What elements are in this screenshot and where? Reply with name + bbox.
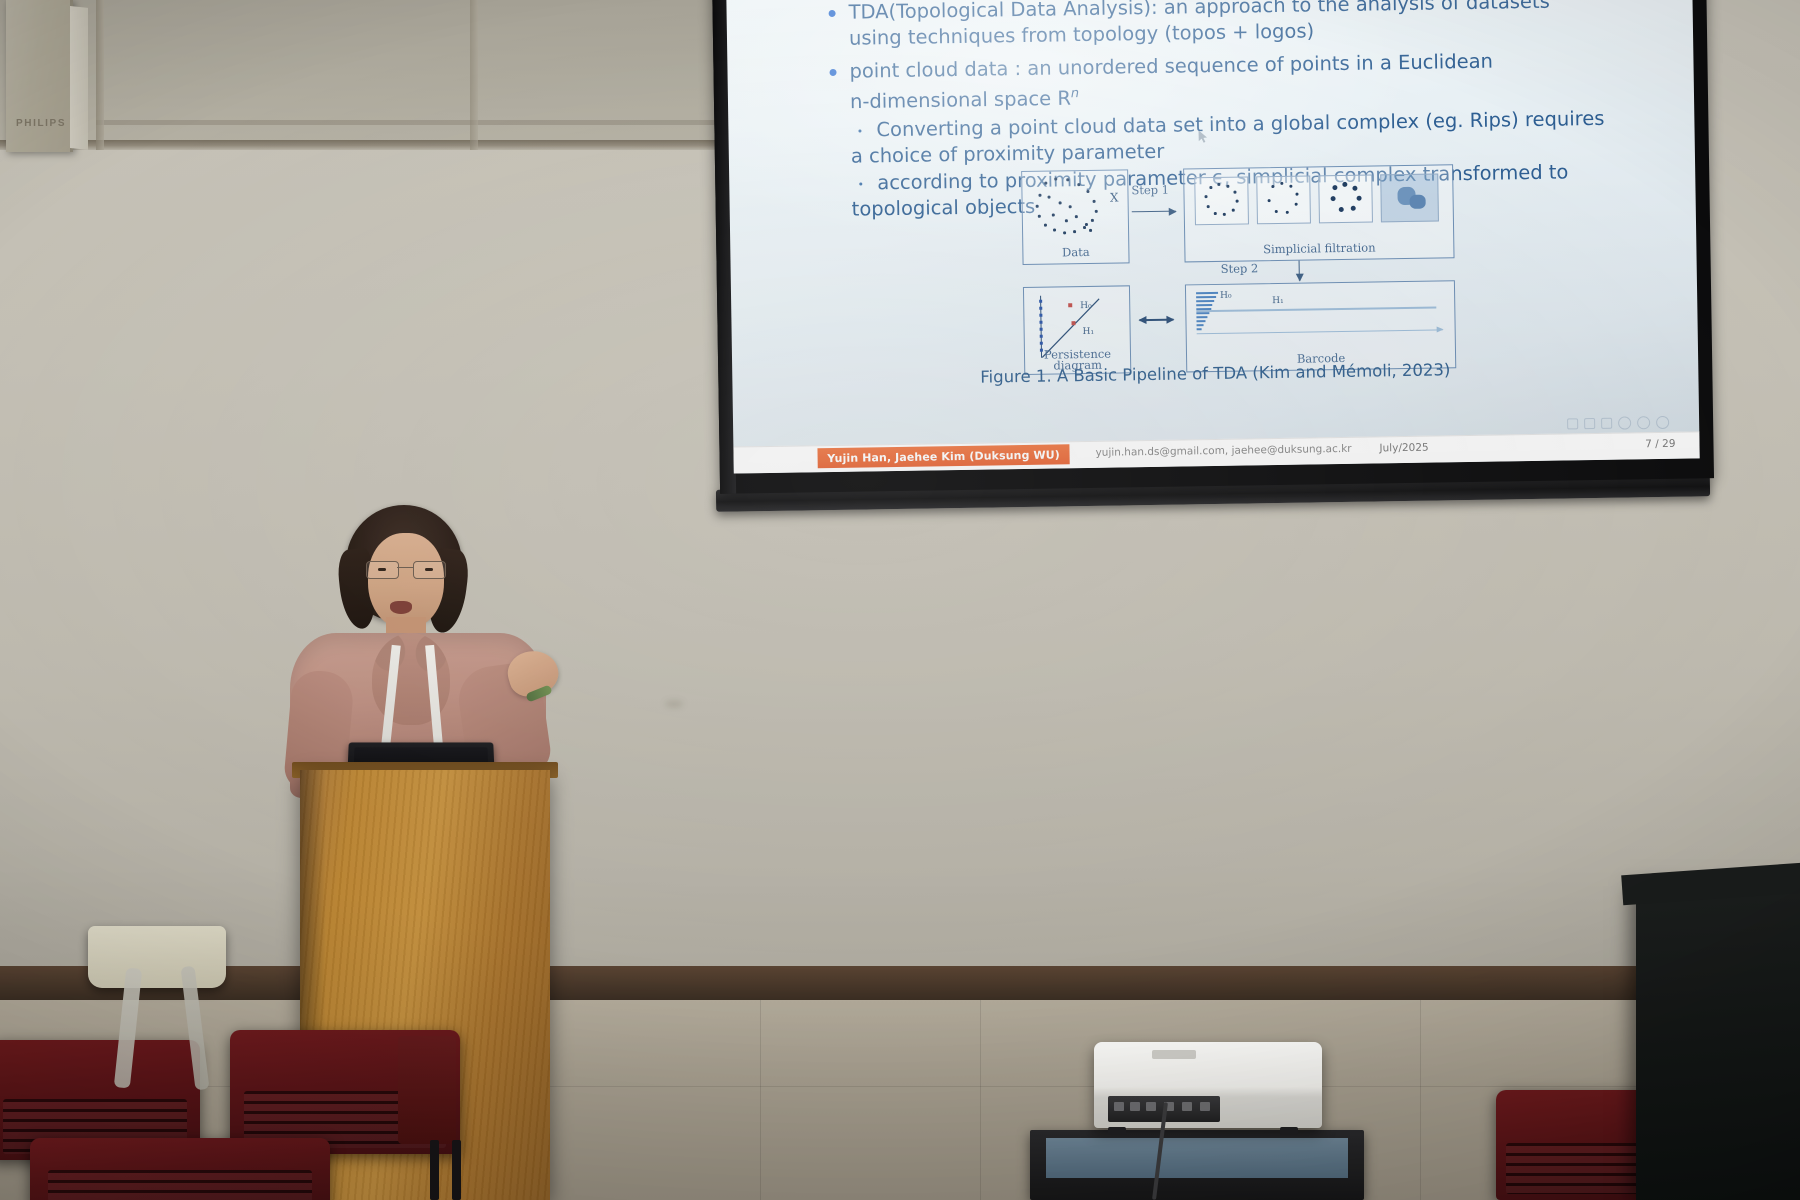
covered-table-right xyxy=(1636,886,1800,1200)
nav-circle-icon[interactable] xyxy=(1618,416,1631,429)
figure-arrow-step2-icon xyxy=(1299,261,1301,281)
filtration-stage-2 xyxy=(1256,175,1311,224)
bullet-dot-icon xyxy=(829,69,836,76)
bullet-dot-icon xyxy=(829,10,836,17)
projector-foot xyxy=(1108,1127,1126,1135)
presenter-face xyxy=(368,533,444,629)
chair-slats xyxy=(1506,1143,1656,1194)
screen-frame: Topological Data Analysis TDA(Topologica… xyxy=(712,0,1714,494)
projected-slide: Topological Data Analysis TDA(Topologica… xyxy=(726,0,1700,474)
glasses-left-lens xyxy=(366,561,399,579)
sub-bullet-dot-icon xyxy=(859,182,862,185)
figure-arrow-bidirectional-icon xyxy=(1139,319,1173,321)
slide-footer-authors: Yujin Han, Jaehee Kim (Duksung WU) xyxy=(827,448,1060,465)
projection-screen: Topological Data Analysis TDA(Topologica… xyxy=(716,0,1716,548)
figure-step2-label: Step 2 xyxy=(1221,261,1259,276)
figure-label-data: Data xyxy=(1023,244,1128,260)
persistence-h1-label: H₁ xyxy=(1083,327,1095,337)
slide-footer: Yujin Han, Jaehee Kim (Duksung WU) yujin… xyxy=(733,431,1699,473)
tote-bag xyxy=(88,926,226,988)
filtration-stage-4 xyxy=(1380,173,1439,222)
sub-bullet-dot-icon xyxy=(858,129,861,132)
chair-leg xyxy=(452,1140,461,1200)
chair-leg xyxy=(430,1140,439,1200)
philips-brand-label: PHILIPS xyxy=(16,118,66,129)
presenter-eye xyxy=(378,568,386,571)
slide-footer-date: July/2025 xyxy=(1379,442,1428,455)
presentation-photo-scene: PHILIPS Topological Data Analysis TDA(To… xyxy=(0,0,1800,1200)
chair-slats xyxy=(48,1170,312,1200)
figure-box-data: X Data xyxy=(1021,169,1129,265)
figure-box-barcode: H₀ H₁ xyxy=(1185,280,1456,372)
persistence-h0-label: H₀ xyxy=(1080,301,1092,311)
wall-column-left xyxy=(96,0,104,150)
figure-step1-label: Step 1 xyxy=(1131,183,1169,198)
projector-table-cloth xyxy=(1046,1138,1348,1178)
presenter-mouth xyxy=(390,601,412,614)
floor-tile-line xyxy=(760,1000,761,1200)
wall-column-right xyxy=(470,0,478,150)
floor-tile-line xyxy=(980,1000,981,1200)
nav-square-icon[interactable] xyxy=(1601,418,1612,429)
figure-box-persistence: H₀ H₁ Persistence diagram xyxy=(1023,285,1131,375)
glasses-right-lens xyxy=(413,561,446,579)
barcode-h1-label: H₁ xyxy=(1272,296,1284,306)
wall-scuff-mark xyxy=(665,700,683,708)
filtration-stage-1 xyxy=(1194,176,1249,225)
chair-back-rest xyxy=(30,1138,330,1200)
nav-circle-icon[interactable] xyxy=(1637,416,1650,429)
wall-speaker-box: PHILIPS xyxy=(6,0,73,152)
figure-box-filtration: Simplicial filtration xyxy=(1183,164,1454,262)
nav-circle-icon[interactable] xyxy=(1656,416,1669,429)
figure-label-filtration: Simplicial filtration xyxy=(1185,239,1453,257)
nav-square-icon[interactable] xyxy=(1567,418,1578,429)
wall-seam-secondary xyxy=(96,120,796,125)
chair-arm-rest xyxy=(398,1036,456,1144)
slide-footer-emails: yujin.han.ds@gmail.com, jaehee@duksung.a… xyxy=(1095,443,1351,459)
superscript-n: n xyxy=(1071,86,1079,101)
barcode-h0-label: H₀ xyxy=(1220,291,1232,301)
figure-point-label-x: X xyxy=(1110,190,1119,204)
figure-arrow-step1-icon xyxy=(1132,211,1176,213)
mouse-cursor-icon xyxy=(1198,130,1207,143)
floor-tile-line xyxy=(1420,1000,1421,1200)
glasses-bridge xyxy=(397,567,413,568)
presenter-glasses-icon xyxy=(365,561,447,577)
bullet-item: TDA(Topological Data Analysis): an appro… xyxy=(822,0,1623,52)
wall-horizontal-seam xyxy=(0,140,790,150)
screen-surface: Topological Data Analysis TDA(Topologica… xyxy=(726,0,1700,474)
slide-footer-authors-tab: Yujin Han, Jaehee Kim (Duksung WU) xyxy=(817,444,1069,468)
slide-footer-page-number: 7 / 29 xyxy=(1645,438,1675,450)
tda-pipeline-figure: X Data Step 1 xyxy=(997,156,1602,355)
projector-vent xyxy=(1152,1050,1196,1059)
projector-device xyxy=(1094,1042,1322,1128)
wall-baseboard xyxy=(0,966,1800,1000)
projector-foot xyxy=(1280,1127,1298,1135)
presenter-eye xyxy=(425,568,433,571)
filtration-stage-3 xyxy=(1318,174,1373,223)
bullet-line-text: n-dimensional space R xyxy=(850,87,1071,113)
slide-navigation-icons[interactable] xyxy=(1567,416,1669,431)
nav-square-icon[interactable] xyxy=(1584,418,1595,429)
